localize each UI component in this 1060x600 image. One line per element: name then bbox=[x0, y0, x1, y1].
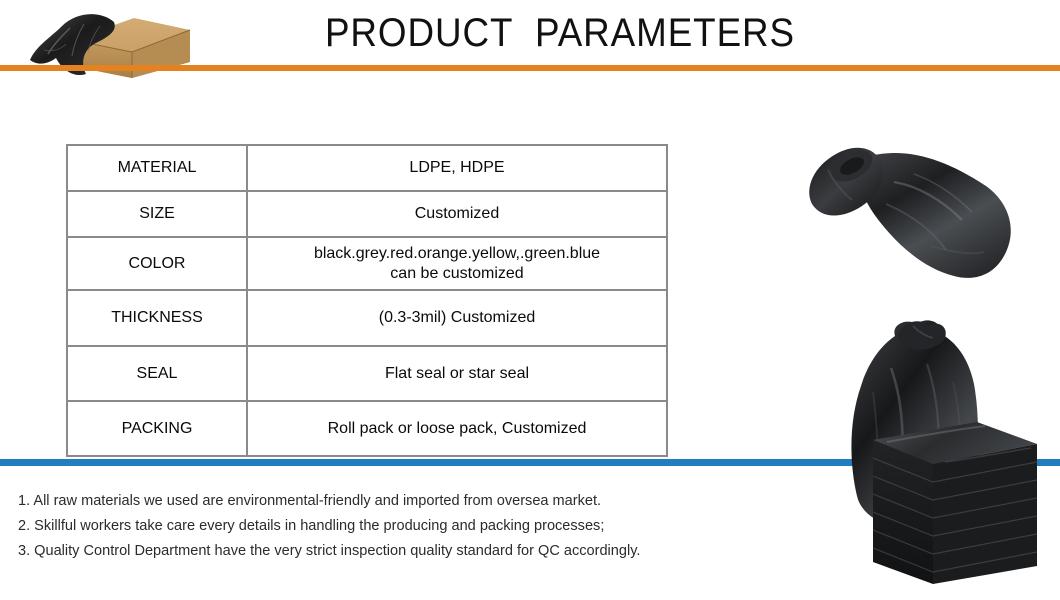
spec-key-color: COLOR bbox=[67, 237, 247, 290]
table-row: THICKNESS (0.3-3mil) Customized bbox=[67, 290, 667, 346]
table-row: MATERIAL LDPE, HDPE bbox=[67, 145, 667, 191]
orange-divider bbox=[0, 65, 1060, 71]
carton-box-with-black-bags-image bbox=[14, 0, 194, 92]
specification-table: MATERIAL LDPE, HDPE SIZE Customized COLO… bbox=[66, 144, 668, 457]
spec-key-thickness: THICKNESS bbox=[67, 290, 247, 346]
note-item: 3. Quality Control Department have the v… bbox=[18, 542, 775, 560]
spec-value-seal: Flat seal or star seal bbox=[247, 346, 667, 401]
spec-value-thickness: (0.3-3mil) Customized bbox=[247, 290, 667, 346]
table-row: PACKING Roll pack or loose pack, Customi… bbox=[67, 401, 667, 456]
tied-garbage-bag-with-stack-image bbox=[795, 312, 1053, 600]
table-row: SIZE Customized bbox=[67, 191, 667, 237]
table-row: SEAL Flat seal or star seal bbox=[67, 346, 667, 401]
note-item: 1. All raw materials we used are environ… bbox=[18, 492, 775, 510]
spec-key-packing: PACKING bbox=[67, 401, 247, 456]
spec-key-seal: SEAL bbox=[67, 346, 247, 401]
page-title: PRODUCT PARAMETERS bbox=[321, 8, 799, 58]
spec-key-material: MATERIAL bbox=[67, 145, 247, 191]
table-row: COLOR black.grey.red.orange.yellow,.gree… bbox=[67, 237, 667, 290]
spec-value-color: black.grey.red.orange.yellow,.green.blue… bbox=[247, 237, 667, 290]
note-item: 2. Skillful workers take care every deta… bbox=[18, 517, 775, 535]
spec-value-material: LDPE, HDPE bbox=[247, 145, 667, 191]
spec-key-size: SIZE bbox=[67, 191, 247, 237]
spec-value-size: Customized bbox=[247, 191, 667, 237]
spec-value-color-text: black.grey.red.orange.yellow,.green.blue… bbox=[252, 244, 662, 284]
rolled-black-plastic-bag-image bbox=[790, 130, 1040, 315]
spec-value-packing: Roll pack or loose pack, Customized bbox=[247, 401, 667, 456]
product-parameters-page: PRODUCT PARAMETERS MATERIAL LDPE, HDPE S… bbox=[0, 0, 1060, 600]
notes-list: 1. All raw materials we used are environ… bbox=[18, 492, 798, 560]
